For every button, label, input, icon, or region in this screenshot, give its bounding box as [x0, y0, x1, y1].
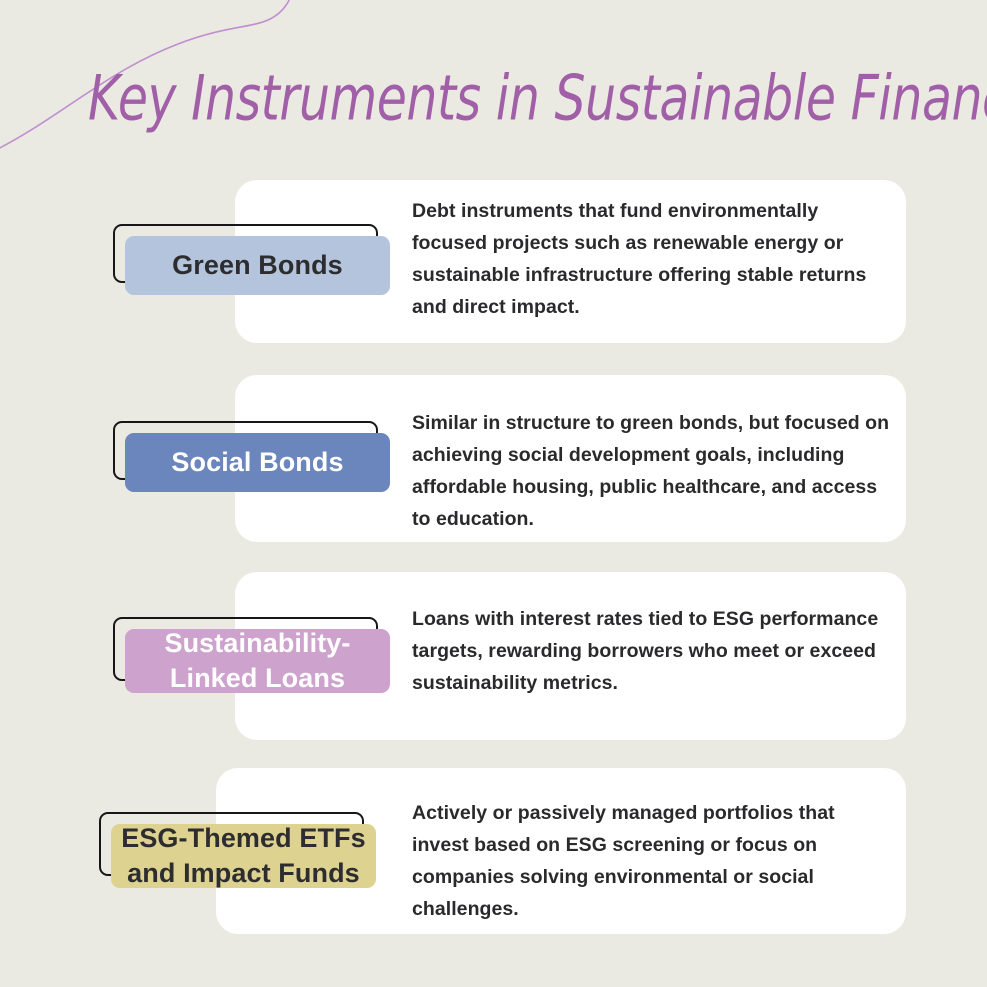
infographic-root: Key Instruments in Sustainable Finance G…: [0, 0, 987, 987]
label-text: ESG-Themed ETFs and Impact Funds: [111, 821, 376, 890]
instrument-label-green-bonds[interactable]: Green Bonds: [113, 224, 390, 295]
instrument-description: Debt instruments that fund environmental…: [412, 195, 890, 323]
label-fill: Sustainability- Linked Loans: [125, 629, 390, 693]
label-fill: Social Bonds: [125, 433, 390, 492]
label-text: Social Bonds: [161, 445, 353, 480]
instrument-label-esg-themed-etfs[interactable]: ESG-Themed ETFs and Impact Funds: [99, 812, 376, 888]
label-fill: Green Bonds: [125, 236, 390, 295]
label-text: Green Bonds: [162, 248, 353, 283]
label-text: Sustainability- Linked Loans: [154, 626, 360, 695]
instrument-description: Actively or passively managed portfolios…: [412, 797, 890, 925]
instrument-description: Similar in structure to green bonds, but…: [412, 407, 890, 535]
instrument-description: Loans with interest rates tied to ESG pe…: [412, 603, 890, 699]
instrument-label-social-bonds[interactable]: Social Bonds: [113, 421, 390, 492]
instrument-label-sustainability-linked-loans[interactable]: Sustainability- Linked Loans: [113, 617, 390, 693]
page-title: Key Instruments in Sustainable Finance: [88, 56, 914, 144]
label-fill: ESG-Themed ETFs and Impact Funds: [111, 824, 376, 888]
